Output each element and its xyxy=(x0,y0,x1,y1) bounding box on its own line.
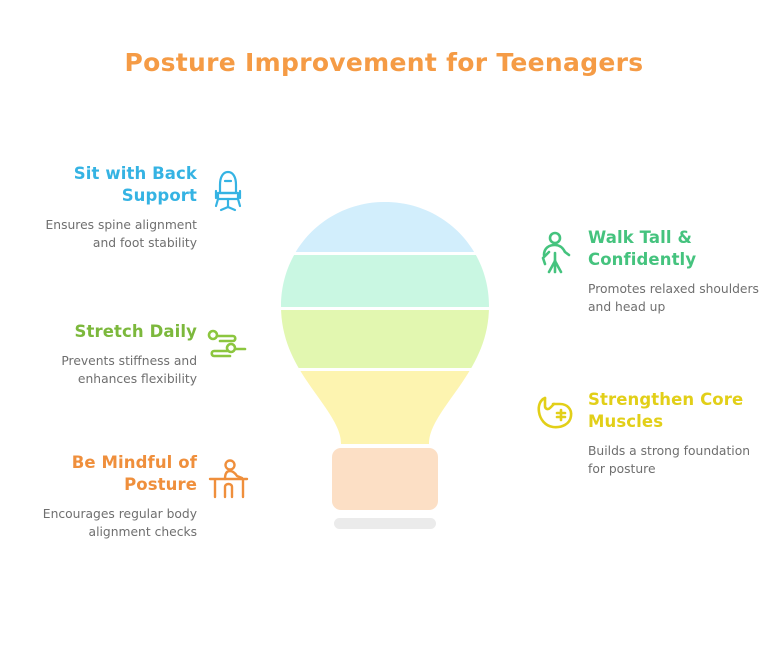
feature-item-stretch-daily: Stretch Daily Prevents stiffness and enh… xyxy=(26,321,251,389)
bulb-band-4 xyxy=(279,371,491,447)
person-at-desk-icon xyxy=(205,458,251,504)
feature-text-walk: Walk Tall & Confidently Promotes relaxed… xyxy=(588,227,760,317)
infographic-canvas: Posture Improvement for Teenagers xyxy=(0,0,768,668)
feature-item-be-mindful-of-posture: Be Mindful of Posture Encourages regular… xyxy=(26,452,251,542)
feature-item-strengthen-core-muscles: Strengthen Core Muscles Builds a strong … xyxy=(532,389,760,479)
feature-text-sit: Sit with Back Support Ensures spine alig… xyxy=(26,163,197,253)
feature-description-mindful: Encourages regular body alignment checks xyxy=(26,505,197,542)
bulb-base xyxy=(332,448,438,510)
stretching-person-icon xyxy=(205,327,251,373)
bulb-band-3 xyxy=(279,310,491,368)
feature-heading-core: Strengthen Core Muscles xyxy=(588,389,760,433)
feature-item-walk-tall-confidently: Walk Tall & Confidently Promotes relaxed… xyxy=(532,227,760,317)
bulb-band-2 xyxy=(279,255,491,307)
feature-heading-walk: Walk Tall & Confidently xyxy=(588,227,760,271)
feature-description-walk: Promotes relaxed shoulders and head up xyxy=(588,280,760,317)
feature-text-stretch: Stretch Daily Prevents stiffness and enh… xyxy=(26,321,197,389)
feature-item-sit-with-back-support: Sit with Back Support Ensures spine alig… xyxy=(26,163,251,253)
walking-person-icon xyxy=(532,231,578,277)
bulb-band-1 xyxy=(279,200,491,252)
feature-heading-stretch: Stretch Daily xyxy=(26,321,197,343)
feature-text-core: Strengthen Core Muscles Builds a strong … xyxy=(588,389,760,479)
lightbulb-graphic xyxy=(279,200,491,540)
feature-text-mindful: Be Mindful of Posture Encourages regular… xyxy=(26,452,197,542)
feature-heading-mindful: Be Mindful of Posture xyxy=(26,452,197,496)
feature-description-sit: Ensures spine alignment and foot stabili… xyxy=(26,216,197,253)
bulb-thread-a xyxy=(334,518,436,529)
feature-heading-sit: Sit with Back Support xyxy=(26,163,197,207)
feature-description-stretch: Prevents stiffness and enhances flexibil… xyxy=(26,352,197,389)
page-title: Posture Improvement for Teenagers xyxy=(0,48,768,77)
flexed-bicep-icon xyxy=(532,393,578,439)
feature-description-core: Builds a strong foundation for posture xyxy=(588,442,760,479)
office-chair-icon xyxy=(205,169,251,215)
